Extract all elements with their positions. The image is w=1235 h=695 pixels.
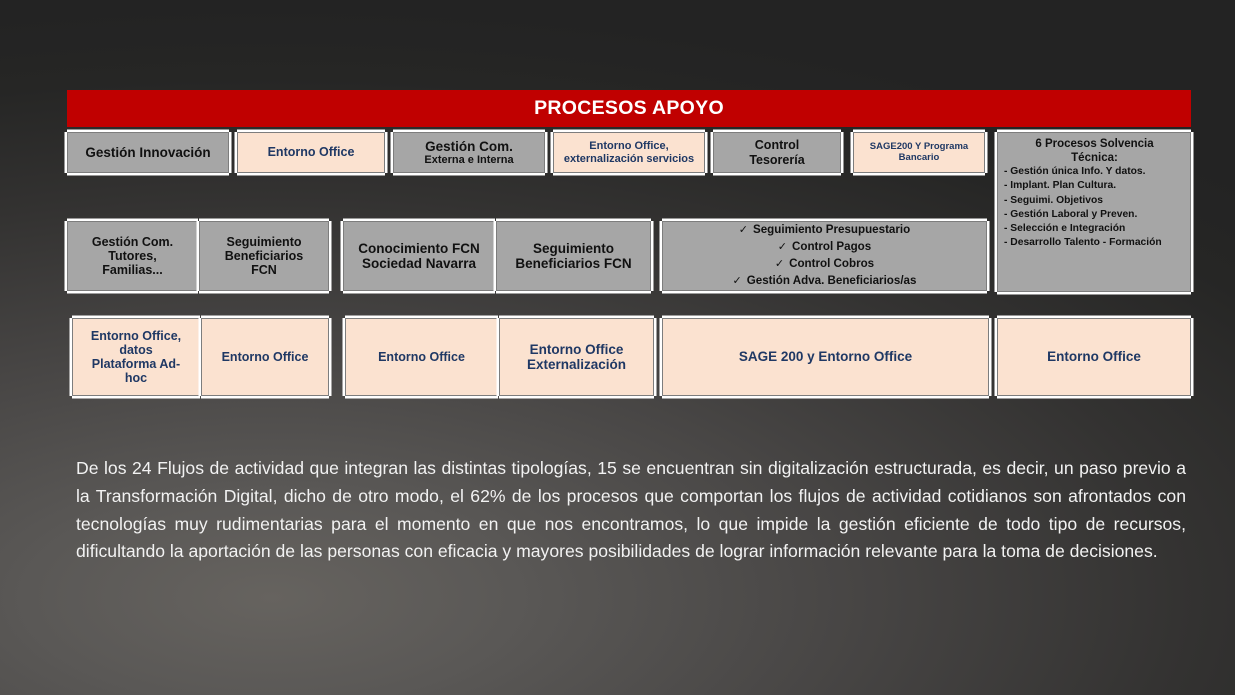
- checkmark-icon: ✓: [733, 275, 742, 287]
- box-line: Conocimiento FCN: [358, 241, 480, 256]
- box-line: datos: [119, 343, 152, 357]
- process-box-seguimiento-beneficiarios-fcn-2[interactable]: Seguimiento Beneficiarios FCN: [496, 221, 651, 291]
- check-list-item-label: Seguimiento Presupuestario: [753, 223, 910, 236]
- process-box-sage200-programa-bancario[interactable]: SAGE200 Y Programa Bancario: [853, 132, 985, 173]
- process-box-gestion-innovacion[interactable]: Gestión Innovación: [67, 132, 229, 173]
- process-box-gestion-com-tutores-familias[interactable]: Gestión Com. Tutores, Familias...: [67, 221, 198, 291]
- check-list-item: ✓Control Cobros: [775, 256, 874, 273]
- process-box-seguimiento-presupuestario-checklist[interactable]: ✓Seguimiento Presupuestario ✓Control Pag…: [662, 221, 987, 291]
- check-list-item-label: Control Cobros: [789, 257, 874, 270]
- box-line: FCN: [251, 263, 277, 277]
- process-box-entorno-office-1[interactable]: Entorno Office: [237, 132, 385, 173]
- box-line: Entorno Office: [222, 350, 309, 364]
- box-line: Gestión Com.: [425, 139, 513, 154]
- box-line: Control: [755, 138, 799, 152]
- box-line: hoc: [125, 371, 147, 385]
- tool-box-entorno-office-externalizacion[interactable]: Entorno Office Externalización: [499, 318, 654, 396]
- box-subline: Externa e Interna: [424, 154, 513, 167]
- box-line: Sociedad Navarra: [362, 256, 476, 271]
- tool-box-entorno-office-2[interactable]: Entorno Office: [201, 318, 329, 396]
- check-list-item-label: Gestión Adva. Beneficiarios/as: [747, 274, 917, 287]
- box-line: Gestión Com.: [92, 235, 173, 249]
- check-list-item: ✓Control Pagos: [778, 239, 871, 256]
- checkmark-icon: ✓: [778, 241, 787, 253]
- tool-box-entorno-office-4[interactable]: Entorno Office: [997, 318, 1191, 396]
- slide-content: PROCESOS APOYO Gestión Innovación Entorn…: [0, 0, 1235, 695]
- check-list-item: ✓Gestión Adva. Beneficiarios/as: [733, 273, 917, 290]
- tool-box-entorno-office-3[interactable]: Entorno Office: [345, 318, 498, 396]
- summary-paragraph: De los 24 Flujos de actividad que integr…: [76, 455, 1186, 566]
- list-item: - Gestión Laboral y Preven.: [1004, 208, 1185, 222]
- box-line: SAGE 200 y Entorno Office: [739, 349, 912, 364]
- process-box-seguimiento-beneficiarios-fcn-1[interactable]: Seguimiento Beneficiarios FCN: [199, 221, 329, 291]
- box-line: Plataforma Ad-: [92, 357, 180, 371]
- box-line: Beneficiarios: [225, 249, 304, 263]
- box-line: Entorno Office,: [91, 329, 181, 343]
- box-line: Entorno Office: [378, 350, 465, 364]
- list-item: - Gestión única Info. Y datos.: [1004, 165, 1185, 179]
- process-box-gestion-com[interactable]: Gestión Com. Externa e Interna: [393, 132, 545, 173]
- check-list-item: ✓Seguimiento Presupuestario: [739, 222, 910, 239]
- list-item: - Seguimi. Objetivos: [1004, 194, 1185, 208]
- box-line: Seguimiento: [533, 241, 614, 256]
- box-line: Entorno Office: [268, 145, 355, 159]
- box-line: Entorno Office,: [589, 140, 668, 153]
- box-line: Externalización: [527, 357, 626, 372]
- banner-title: PROCESOS APOYO: [534, 97, 724, 120]
- box-line: Gestión Innovación: [85, 145, 210, 160]
- box-line: Entorno Office: [1047, 349, 1141, 364]
- box-line: Tutores,: [108, 249, 156, 263]
- box-line: SAGE200 Y Programa: [870, 142, 968, 153]
- checkmark-icon: ✓: [775, 258, 784, 270]
- tool-box-entorno-office-plataforma-adhoc[interactable]: Entorno Office, datos Plataforma Ad- hoc: [72, 318, 200, 396]
- box-line: Familias...: [102, 263, 162, 277]
- box-line: externalización servicios: [564, 153, 694, 166]
- processes-banner: PROCESOS APOYO: [67, 90, 1191, 127]
- box-line: Beneficiarios FCN: [515, 256, 631, 271]
- list-item: - Selección e Integración: [1004, 222, 1185, 236]
- checkmark-icon: ✓: [739, 224, 748, 236]
- box-line: Entorno Office: [530, 342, 624, 357]
- check-list-item-label: Control Pagos: [792, 240, 871, 253]
- process-box-control-tesoreria[interactable]: Control Tesorería: [713, 132, 841, 173]
- process-box-externalizacion-servicios[interactable]: Entorno Office, externalización servicio…: [553, 132, 705, 173]
- box-line: Seguimiento: [226, 235, 301, 249]
- list-item: - Implant. Plan Cultura.: [1004, 179, 1185, 193]
- list-item: - Desarrollo Talento - Formación: [1004, 236, 1185, 250]
- tool-box-sage200-entorno-office[interactable]: SAGE 200 y Entorno Office: [662, 318, 989, 396]
- process-box-conocimiento-fcn-sociedad-navarra[interactable]: Conocimiento FCN Sociedad Navarra: [343, 221, 495, 291]
- box-line: Tesorería: [749, 153, 804, 167]
- listbox-header-line: Técnica:: [1004, 152, 1185, 166]
- process-box-6-procesos-solvencia-tecnica[interactable]: 6 Procesos Solvencia Técnica: - Gestión …: [997, 132, 1191, 292]
- box-line: Bancario: [899, 153, 940, 164]
- listbox-header-line: 6 Procesos Solvencia: [1004, 138, 1185, 152]
